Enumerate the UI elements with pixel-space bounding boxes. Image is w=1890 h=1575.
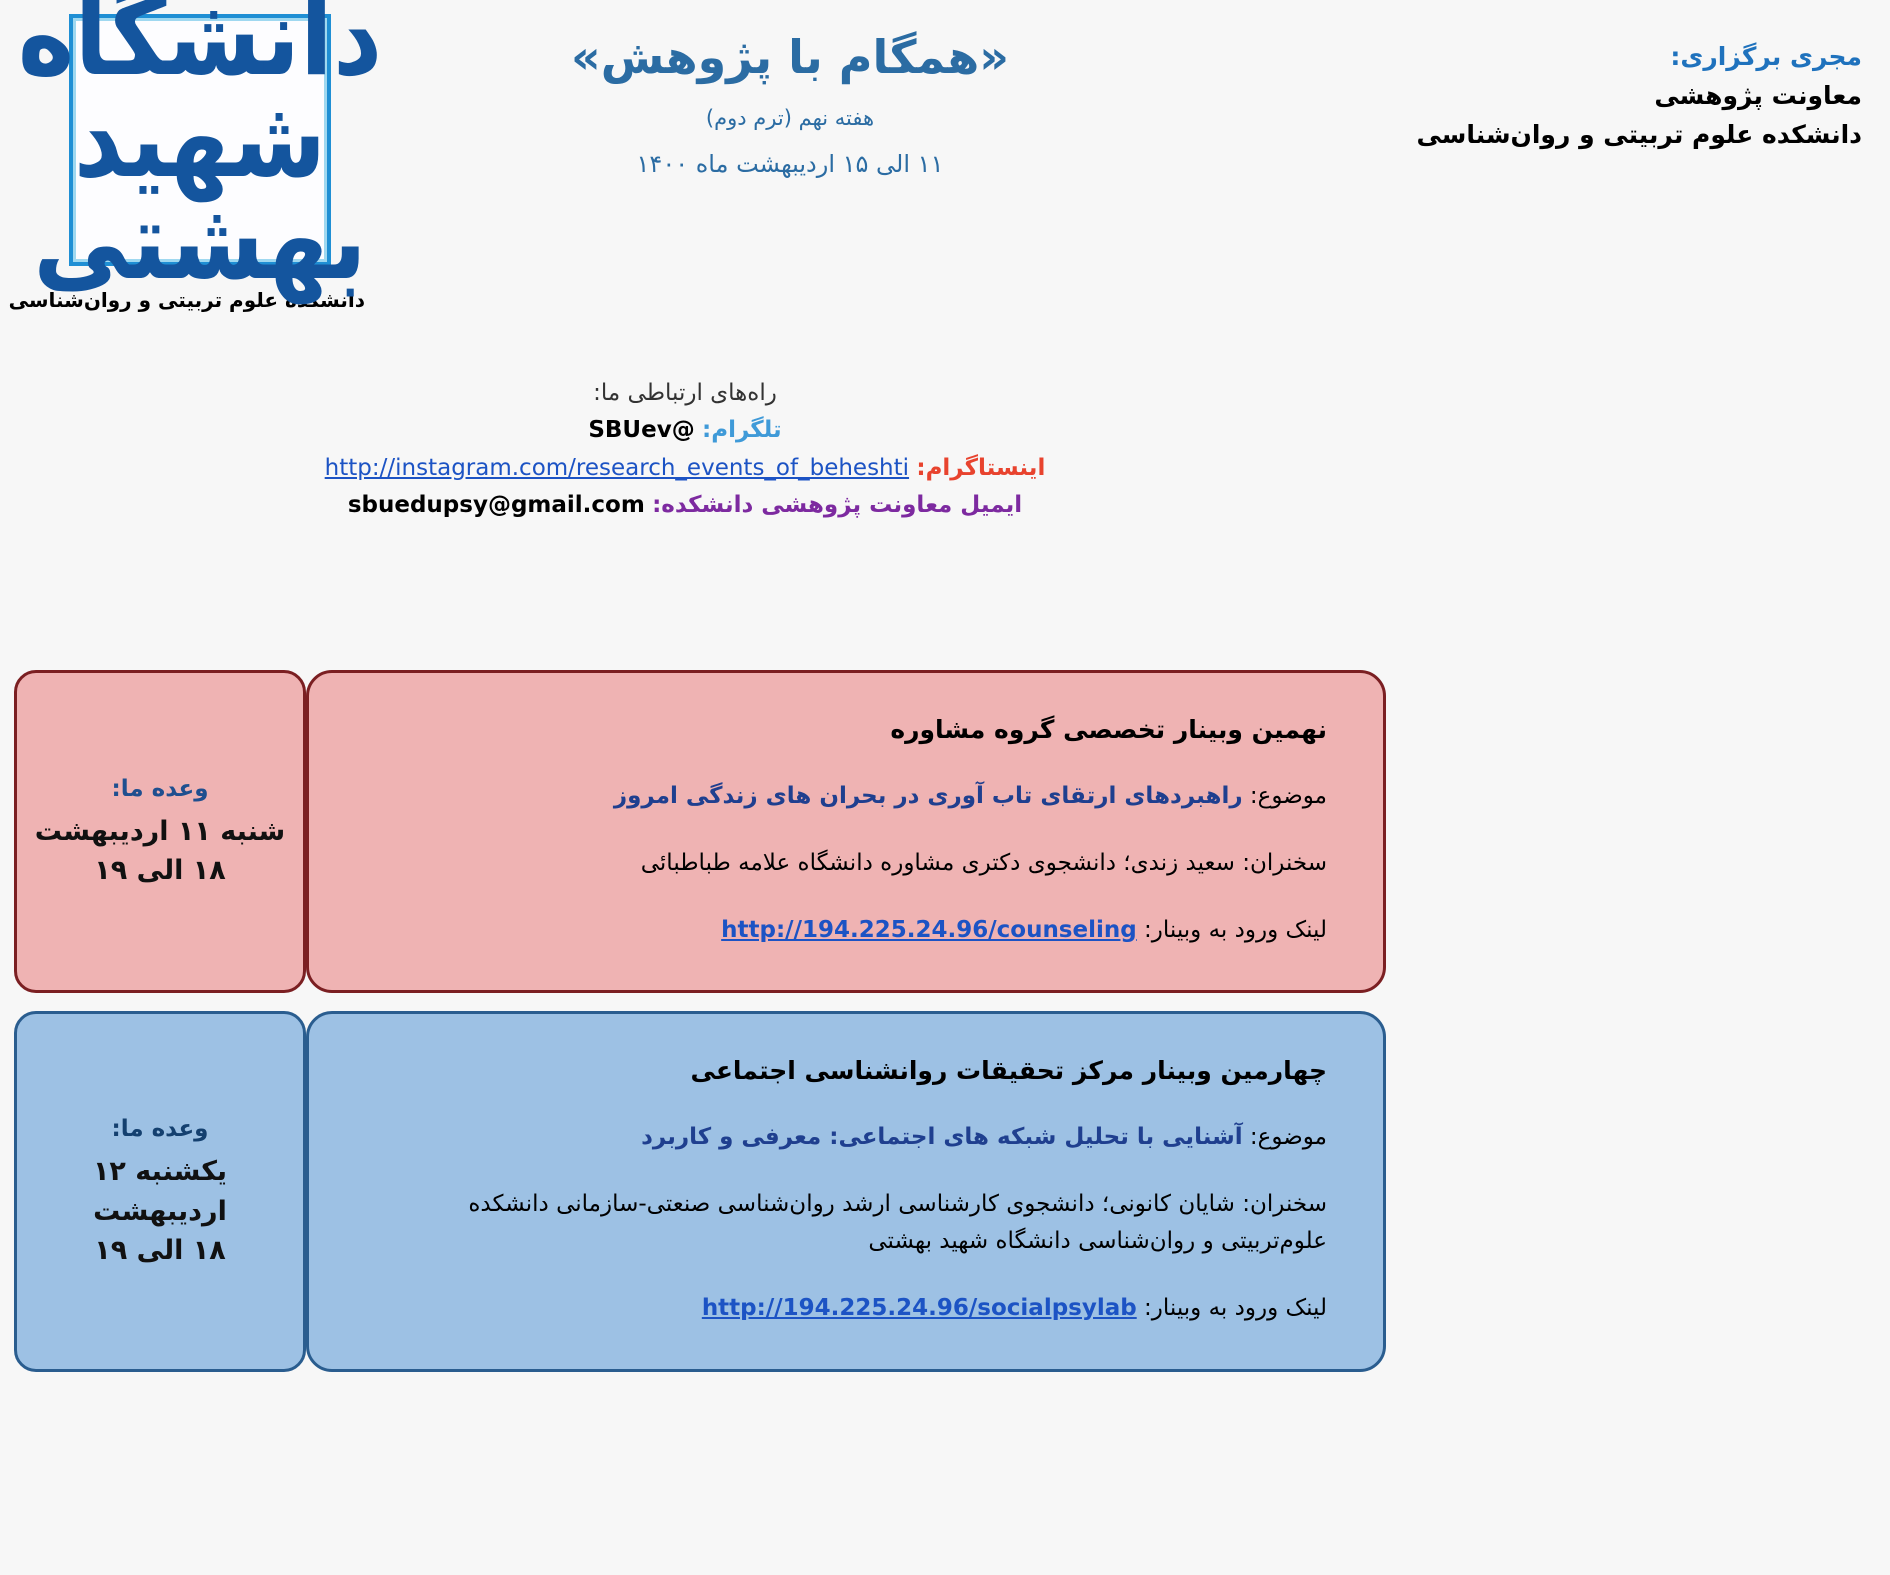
emblem-frame-inner: دانشگاه شهید بهشتی [73,18,327,262]
speaker-label: سخنران: [1242,1191,1327,1217]
webinar-link-row: لینک ورود به وبینار: http://194.225.24.9… [365,912,1327,949]
topic-label: موضوع: [1250,783,1327,809]
speaker-value: شایان کانونی؛ دانشجوی کارشناسی ارشد روان… [468,1191,1327,1254]
emblem-calligraphy: دانشگاه شهید بهشتی [8,0,392,300]
email-label: ایمیل معاونت پژوهشی دانشکده: [652,492,1022,518]
webinar-card-list: وعده ما: شنبه ۱۱ اردیبهشت ۱۸ الی ۱۹ نهمی… [0,670,1890,1372]
university-logo-block: دانشگاه شهید بهشتی دانشکده علوم تربیتی و… [35,14,365,312]
webinar-row: وعده ما: یکشنبه ۱۲ اردیبهشت ۱۸ الی ۱۹ چه… [0,1011,1890,1371]
poster-header: دانشگاه شهید بهشتی دانشکده علوم تربیتی و… [0,0,1890,300]
link-label: لینک ورود به وبینار: [1144,1295,1327,1321]
telegram-separator: : [702,417,711,443]
badge-day: شنبه ۱۱ اردیبهشت [35,812,285,851]
contact-heading: راه‌های ارتباطی ما: [0,375,1370,412]
topic-value: راهبردهای ارتقای تاب آوری در بحران های ز… [614,783,1243,809]
webinar-join-link[interactable]: http://194.225.24.96/counseling [721,912,1137,949]
topic-label: موضوع: [1250,1124,1327,1150]
webinar-topic: موضوع: راهبردهای ارتقای تاب آوری در بحرا… [365,778,1327,815]
organizer-name: معاونت پژوهشی [1162,77,1862,116]
organizer-block: مجری برگزاری: معاونت پژوهشی دانشکده علوم… [1162,38,1862,154]
badge-time: ۱۸ الی ۱۹ [35,851,285,890]
organizer-faculty: دانشکده علوم تربیتی و روان‌شناسی [1162,116,1862,155]
speaker-value: سعید زندی؛ دانشجوی دکتری مشاوره دانشگاه … [641,850,1235,876]
webinar-speaker: سخنران: سعید زندی؛ دانشجوی دکتری مشاوره … [365,845,1327,882]
contact-block: راه‌های ارتباطی ما: تلگرام: @SBUev اینست… [0,375,1370,524]
university-emblem-icon: دانشگاه شهید بهشتی [69,14,331,266]
webinar-schedule-badge: وعده ما: یکشنبه ۱۲ اردیبهشت ۱۸ الی ۱۹ [14,1011,306,1371]
speaker-label: سخنران: [1242,850,1327,876]
card-spacer [0,993,1890,1011]
telegram-handle: @SBUev [588,417,694,443]
webinar-card: چهارمین وبینار مرکز تحقیقات روانشناسی اج… [306,1011,1386,1371]
topic-value: آشنایی با تحلیل شبکه های اجتماعی: معرفی … [641,1124,1243,1150]
webinar-topic: موضوع: آشنایی با تحلیل شبکه های اجتماعی:… [365,1119,1327,1156]
webinar-title: چهارمین وبینار مرکز تحقیقات روانشناسی اج… [365,1056,1327,1085]
badge-label: وعده ما: [35,773,285,806]
instagram-separator: : [916,455,925,481]
contact-row-email: ایمیل معاونت پژوهشی دانشکده: sbuedupsy@g… [0,487,1370,524]
event-date-range: ۱۱ الی ۱۵ اردیبهشت ماه ۱۴۰۰ [430,150,1150,178]
webinar-join-link[interactable]: http://194.225.24.96/socialpsylab [702,1290,1137,1327]
contact-row-instagram: اینستاگرام: http://instagram.com/researc… [0,450,1370,487]
webinar-row: وعده ما: شنبه ۱۱ اردیبهشت ۱۸ الی ۱۹ نهمی… [0,670,1890,993]
instagram-label: اینستاگرام [926,455,1046,481]
organizer-label: مجری برگزاری: [1162,38,1862,77]
webinar-schedule-badge: وعده ما: شنبه ۱۱ اردیبهشت ۱۸ الی ۱۹ [14,670,306,993]
webinar-card: نهمین وبینار تخصصی گروه مشاوره موضوع: را… [306,670,1386,993]
page-title: «همگام با پژوهش» [430,30,1150,84]
webinar-title: نهمین وبینار تخصصی گروه مشاوره [365,715,1327,744]
badge-day: یکشنبه ۱۲ اردیبهشت [25,1152,295,1230]
badge-label: وعده ما: [25,1113,295,1146]
link-label: لینک ورود به وبینار: [1144,917,1327,943]
badge-time: ۱۸ الی ۱۹ [25,1231,295,1270]
page-subtitle: هفته نهم (ترم دوم) [430,106,1150,130]
webinar-speaker: سخنران: شایان کانونی؛ دانشجوی کارشناسی ا… [365,1186,1327,1260]
instagram-link[interactable]: http://instagram.com/research_events_of_… [325,450,909,487]
contact-row-telegram: تلگرام: @SBUev [0,412,1370,449]
title-block: «همگام با پژوهش» هفته نهم (ترم دوم) ۱۱ ا… [430,30,1150,178]
telegram-label: تلگرام [711,417,781,443]
email-address[interactable]: sbuedupsy@gmail.com [348,492,645,518]
webinar-link-row: لینک ورود به وبینار: http://194.225.24.9… [365,1290,1327,1327]
